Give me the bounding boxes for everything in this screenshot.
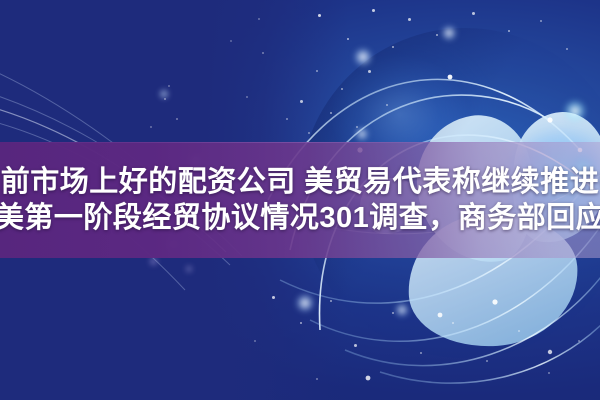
headline-line-2: 美第一阶段经贸协议情况301调查，商务部回应 <box>0 202 600 234</box>
news-banner-image: 目前市场上好的配资公司 美贸易代表称继续推进中 美第一阶段经贸协议情况301调查… <box>0 0 600 400</box>
headline-line-1: 目前市场上好的配资公司 美贸易代表称继续推进中 <box>0 166 600 198</box>
headline-block: 目前市场上好的配资公司 美贸易代表称继续推进中 美第一阶段经贸协议情况301调查… <box>0 142 600 258</box>
